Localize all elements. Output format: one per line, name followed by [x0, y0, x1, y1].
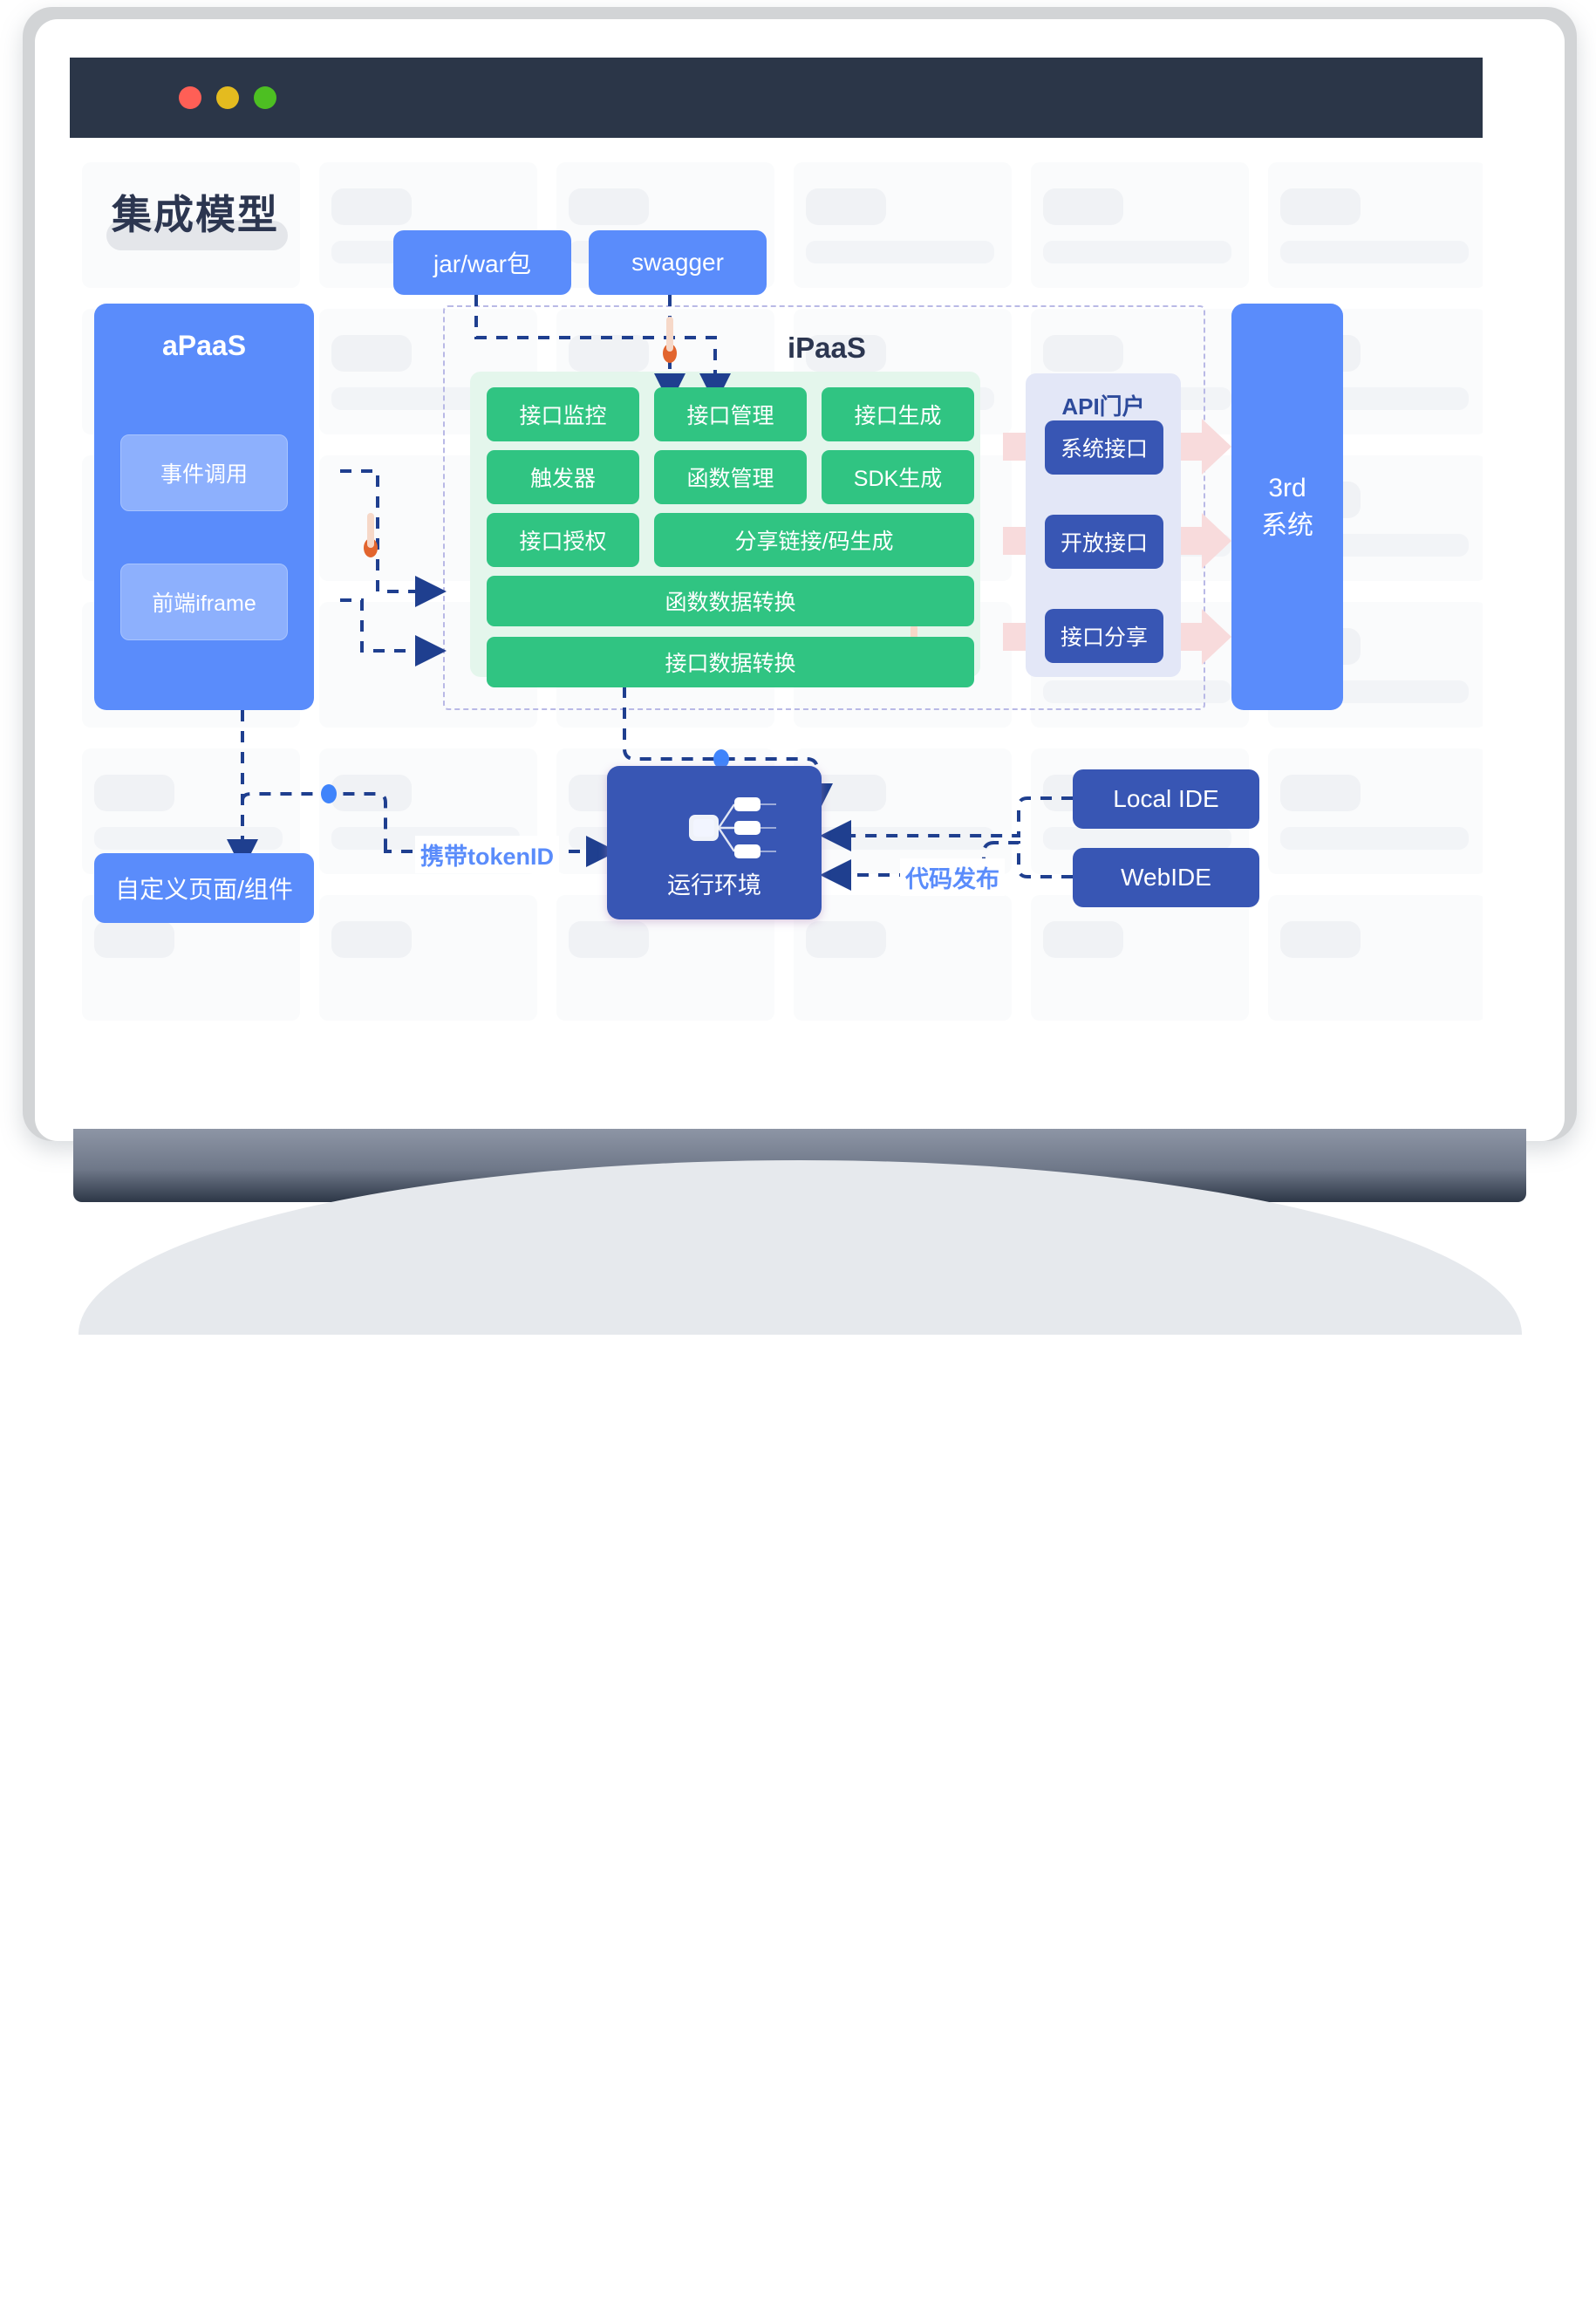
node-web-ide-label: WebIDE [1121, 864, 1211, 892]
node-api-data-transform[interactable]: 接口数据转换 [487, 637, 974, 687]
node-function-manage-label: 函数管理 [686, 461, 774, 493]
node-local-ide-label: Local IDE [1113, 785, 1218, 813]
maximize-icon[interactable] [254, 86, 276, 109]
node-function-manage[interactable]: 函数管理 [654, 450, 807, 504]
stand-notch [586, 2272, 666, 2310]
minimize-icon[interactable] [216, 86, 239, 109]
api-portal-label: API门户 [1026, 389, 1181, 421]
node-function-data-transform-label: 函数数据转换 [665, 585, 795, 617]
node-api-monitor[interactable]: 接口监控 [487, 387, 639, 441]
node-sdk-generate[interactable]: SDK生成 [822, 450, 974, 504]
ipaas-label: iPaaS [788, 331, 866, 365]
node-custom-page-label: 自定义页面/组件 [115, 871, 293, 906]
node-trigger-label: 触发器 [530, 461, 596, 493]
wire-jarwar-to-api-manage [476, 295, 715, 387]
node-api-data-transform-label: 接口数据转换 [665, 646, 795, 678]
page-title: 集成模型 [112, 183, 279, 241]
stand-notch [345, 2272, 426, 2310]
node-apaas-title: aPaaS [94, 330, 314, 362]
node-web-ide[interactable]: WebIDE [1073, 848, 1259, 907]
node-front-iframe-label: 前端iframe [152, 586, 256, 618]
node-event-call[interactable]: 事件调用 [120, 434, 288, 511]
node-share-link-label: 分享链接/码生成 [735, 524, 894, 556]
wire-custom-page-branch [242, 794, 385, 846]
stand-notch [827, 2272, 907, 2310]
stand-notch [1067, 2272, 1148, 2310]
node-jar-war-label: jar/war包 [433, 245, 531, 280]
node-api-generate[interactable]: 接口生成 [822, 387, 974, 441]
node-event-call-label: 事件调用 [160, 457, 248, 489]
node-api-share-label: 接口分享 [1061, 620, 1148, 652]
node-runtime-env-label: 运行环境 [607, 866, 822, 900]
node-third-system-line1: 3rd [1268, 469, 1306, 508]
wire-event-call-to-fn-transform [340, 471, 429, 591]
node-third-system[interactable]: 3rd 系统 [1231, 304, 1343, 710]
wire-iframe-to-api-transform [340, 600, 429, 651]
node-custom-page[interactable]: 自定义页面/组件 [94, 853, 314, 923]
stand-notch [1308, 2272, 1388, 2310]
diagram-canvas: 集成模型 [70, 138, 1483, 1124]
node-api-manage[interactable]: 接口管理 [654, 387, 807, 441]
node-front-iframe[interactable]: 前端iframe [120, 564, 288, 640]
edge-label-code-publish: 代码发布 [900, 858, 1005, 896]
node-system-api[interactable]: 系统接口 [1045, 420, 1163, 475]
node-function-data-transform[interactable]: 函数数据转换 [487, 576, 974, 626]
wire-dot-glow [666, 317, 673, 352]
runtime-topology-icon [607, 778, 822, 874]
node-api-monitor-label: 接口监控 [519, 399, 606, 430]
wire-dot-blue [321, 784, 337, 803]
node-open-api[interactable]: 开放接口 [1045, 515, 1163, 569]
node-api-auth-label: 接口授权 [519, 524, 606, 556]
node-api-auth[interactable]: 接口授权 [487, 513, 639, 567]
node-local-ide[interactable]: Local IDE [1073, 769, 1259, 829]
edge-label-token-id: 携带tokenID [415, 836, 559, 873]
node-api-generate-label: 接口生成 [854, 399, 941, 430]
wire-dot-glow [367, 513, 374, 548]
node-api-share[interactable]: 接口分享 [1045, 609, 1163, 663]
node-api-manage-label: 接口管理 [686, 399, 774, 430]
node-share-link[interactable]: 分享链接/码生成 [654, 513, 974, 567]
node-swagger-label: swagger [631, 249, 724, 277]
node-swagger[interactable]: swagger [589, 230, 767, 295]
node-runtime-env[interactable]: 运行环境 [607, 766, 822, 919]
wire-local-ide-to-runtime [837, 798, 1073, 836]
node-apaas[interactable]: aPaaS 事件调用 前端iframe [94, 304, 314, 710]
node-sdk-generate-label: SDK生成 [854, 461, 942, 493]
window-titlebar [70, 58, 1483, 138]
node-jar-war[interactable]: jar/war包 [393, 230, 571, 295]
wire-web-ide-merge [994, 843, 1073, 877]
stand-notch [105, 2272, 185, 2310]
node-trigger[interactable]: 触发器 [487, 450, 639, 504]
close-icon[interactable] [179, 86, 201, 109]
node-open-api-label: 开放接口 [1061, 526, 1148, 557]
node-third-system-line2: 系统 [1261, 507, 1313, 545]
node-system-api-label: 系统接口 [1061, 432, 1148, 463]
